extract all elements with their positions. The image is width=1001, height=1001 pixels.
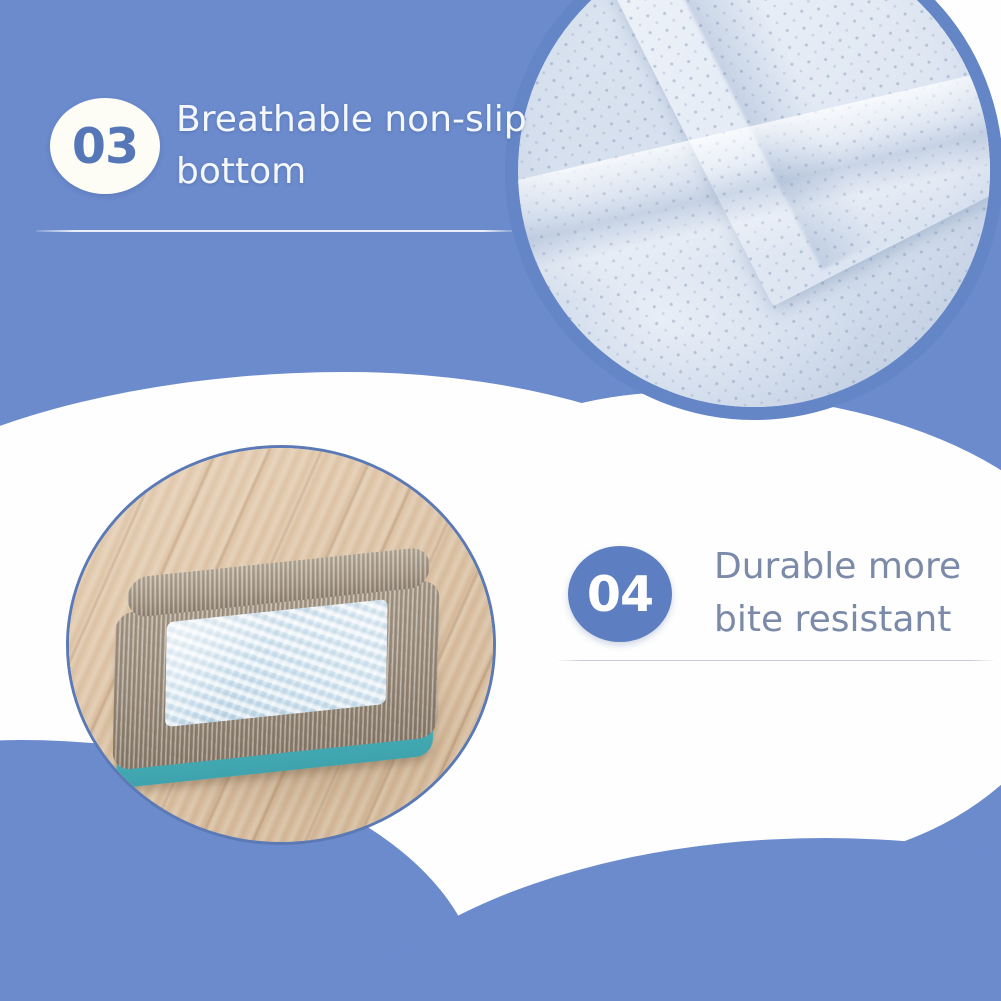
feature-text-03: Breathable non-slip bottom (176, 94, 576, 198)
feature-item-03: 03 Breathable non-slip bottom (36, 88, 516, 238)
feature-text-04-line2: bite resistant (714, 593, 1001, 646)
pet-mat (112, 555, 444, 806)
feature-number-04: 04 (587, 570, 653, 619)
feature-text-04-line1: Durable more (714, 540, 1001, 593)
feature-item-04: 04 Durable more bite resistant (568, 540, 988, 690)
feature-number-badge-03: 03 (50, 98, 160, 194)
feature-text-04: Durable more bite resistant (714, 540, 1001, 647)
feature-divider-03 (36, 230, 512, 232)
fabric-surface (518, 0, 990, 407)
photo-vignette (518, 0, 990, 407)
feature-number-03: 03 (72, 122, 138, 171)
infographic-canvas: 03 Breathable non-slip bottom (0, 0, 1001, 1001)
photo-breathable-bottom (505, 0, 1001, 420)
feature-number-badge-04: 04 (568, 546, 672, 642)
feature-text-03-line2: bottom (176, 146, 576, 198)
photo-pet-mat (66, 445, 496, 845)
feature-divider-04 (556, 660, 996, 661)
feature-text-03-line1: Breathable non-slip (176, 94, 576, 146)
